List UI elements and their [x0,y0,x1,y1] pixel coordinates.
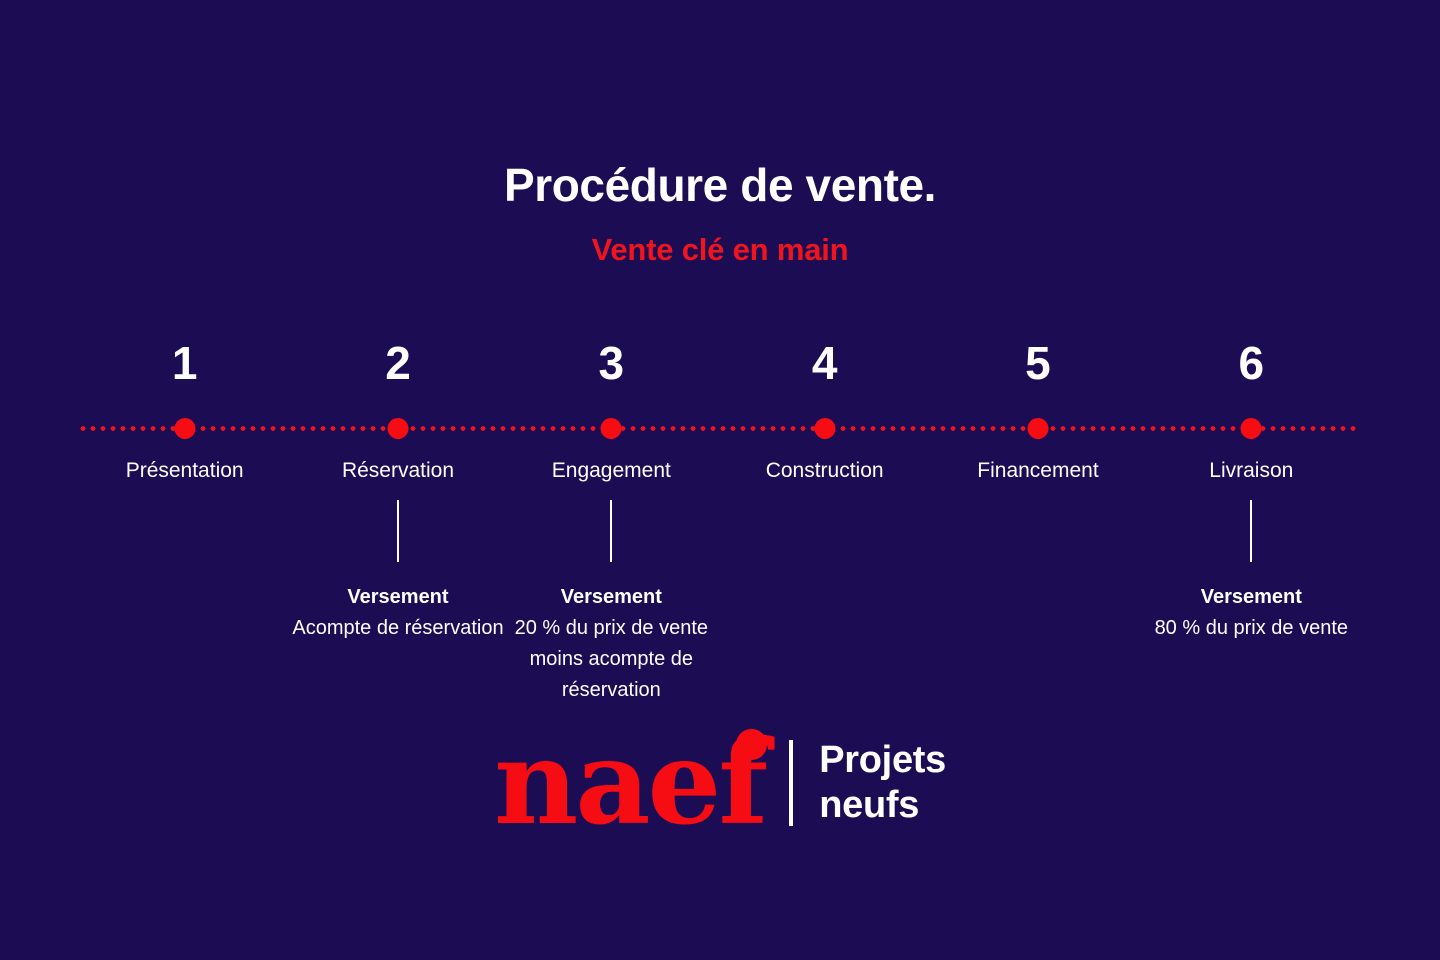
callout-heading: Versement [496,582,726,613]
logo-tagline: Projets neufs [819,738,946,828]
step-number: 6 [1145,340,1358,386]
naef-logo: naef Projets neufs [0,725,1440,841]
step-dot-icon [174,418,195,439]
callout-stem-line [397,500,399,562]
step-number: 1 [78,340,291,386]
step-dot-icon [387,418,408,439]
step-callout: Versement 80 % du prix de vente [1136,500,1366,644]
callout-body: 80 % du prix de vente [1136,613,1366,644]
step-dot-icon [1241,418,1262,439]
timeline-step-4: 4 Construction [718,340,931,540]
step-number: 5 [931,340,1144,386]
naef-wordmark-text: naef [494,715,765,851]
step-callout: Versement Acompte de réservation [283,500,513,644]
step-label: Engagement [501,458,721,483]
timeline-steps: 1 Présentation 2 Réservation Versement A… [78,340,1358,540]
page-subtitle: Vente clé en main [0,233,1440,267]
callout-stem-line [1250,500,1252,562]
timeline-step-6: 6 Livraison Versement 80 % du prix de ve… [1145,340,1358,540]
step-dot-icon [814,418,835,439]
logo-divider [789,740,793,826]
header: Procédure de vente. Vente clé en main [0,160,1440,267]
step-label: Présentation [75,458,295,483]
step-label: Construction [715,458,935,483]
callout-stem-line [610,500,612,562]
logo-tagline-line-1: Projets [819,738,946,783]
step-dot-icon [601,418,622,439]
timeline-step-2: 2 Réservation Versement Acompte de réser… [291,340,504,540]
callout-heading: Versement [1136,582,1366,613]
sales-procedure-infographic: Procédure de vente. Vente clé en main 1 … [0,0,1440,960]
callout-body: 20 % du prix de vente moins acompte de r… [496,613,726,706]
logo-tagline-line-2: neufs [819,783,946,828]
step-label: Livraison [1141,458,1361,483]
timeline: 1 Présentation 2 Réservation Versement A… [78,340,1358,540]
step-label: Financement [928,458,1148,483]
step-dot-icon [1027,418,1048,439]
step-callout: Versement 20 % du prix de vente moins ac… [496,500,726,706]
step-label: Réservation [288,458,508,483]
naef-wordmark: naef [494,725,769,841]
callout-heading: Versement [283,582,513,613]
timeline-step-1: 1 Présentation [78,340,291,540]
step-number: 2 [291,340,504,386]
timeline-step-3: 3 Engagement Versement 20 % du prix de v… [505,340,718,540]
step-number: 4 [718,340,931,386]
step-number: 3 [505,340,718,386]
callout-body: Acompte de réservation [283,613,513,644]
timeline-step-5: 5 Financement [931,340,1144,540]
page-title: Procédure de vente. [0,160,1440,211]
